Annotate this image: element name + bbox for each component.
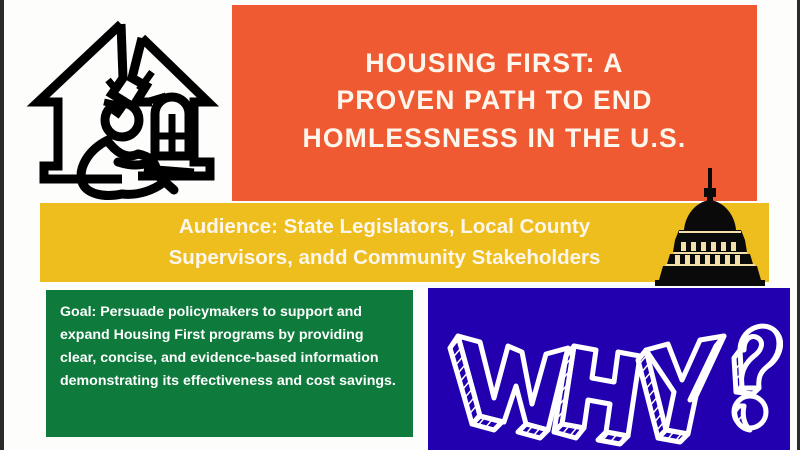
why-lettering (428, 288, 790, 450)
audience-text: Audience: State Legislators, Local Count… (169, 212, 601, 273)
goal-text: Goal: Persuade policymakers to support a… (60, 301, 397, 393)
why-panel (428, 288, 790, 450)
broken-house-icon (26, 16, 226, 206)
goal-box: Goal: Persuade policymakers to support a… (46, 290, 413, 437)
slide-canvas: HOUSING FIRST: A PROVEN PATH TO END HOML… (0, 0, 800, 450)
slide-left-border (0, 0, 4, 450)
capitol-dome-icon (655, 168, 767, 291)
slide-title: HOUSING FIRST: A PROVEN PATH TO END HOML… (303, 45, 687, 158)
